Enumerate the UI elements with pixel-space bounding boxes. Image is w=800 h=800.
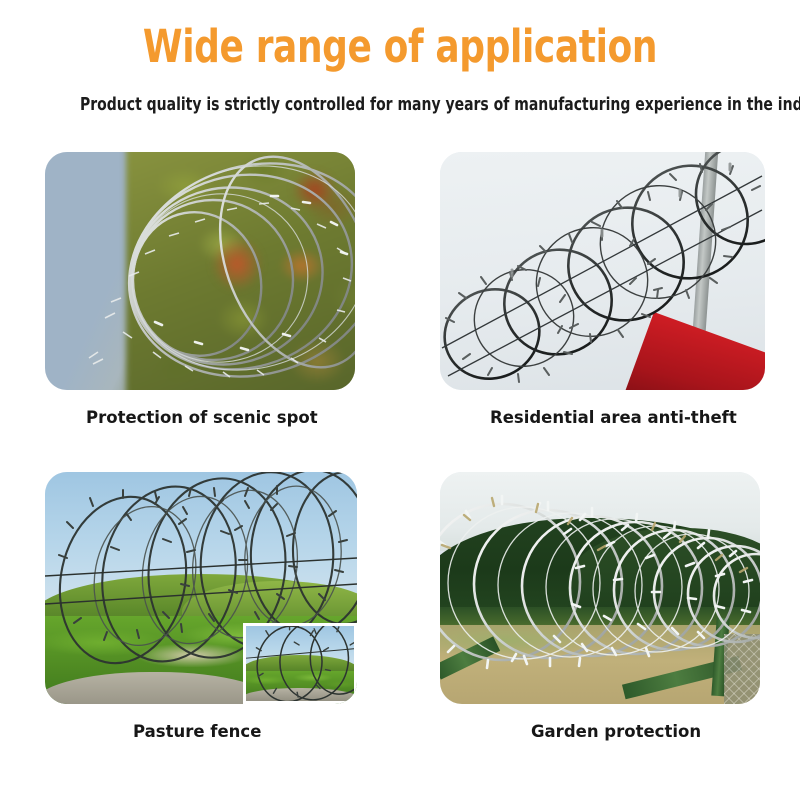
card-pasture-fence: Pasture fence: [45, 472, 357, 722]
page-title: Wide range of application: [80, 24, 720, 69]
photo-pasture-fence: [45, 472, 357, 704]
caption-scenic-spot: Protection of scenic spot: [86, 410, 318, 427]
promo-banner: Wide range of application Product qualit…: [0, 0, 800, 800]
photo4-razor-wire: [440, 472, 760, 704]
card-residential-anti-theft: Residential area anti-theft: [440, 152, 765, 392]
caption-residential-anti-theft: Residential area anti-theft: [490, 410, 737, 427]
photo-garden-protection: [440, 472, 760, 704]
inset-razor-wire: [246, 626, 354, 701]
page-subtitle: Product quality is strictly controlled f…: [80, 97, 720, 115]
photo-residential-anti-theft: [440, 152, 765, 390]
caption-pasture-fence: Pasture fence: [133, 724, 261, 741]
card-garden-protection: Garden protection: [440, 472, 760, 722]
card-scenic-spot: Protection of scenic spot: [45, 152, 355, 392]
caption-garden-protection: Garden protection: [531, 724, 701, 741]
photo3-inset-image: [246, 626, 354, 701]
photo3-inset-thumbnail: [243, 623, 357, 704]
photo-scenic-spot: [45, 152, 355, 390]
photo1-razor-wire: [45, 152, 355, 390]
photo2-razor-wire: [440, 152, 765, 390]
